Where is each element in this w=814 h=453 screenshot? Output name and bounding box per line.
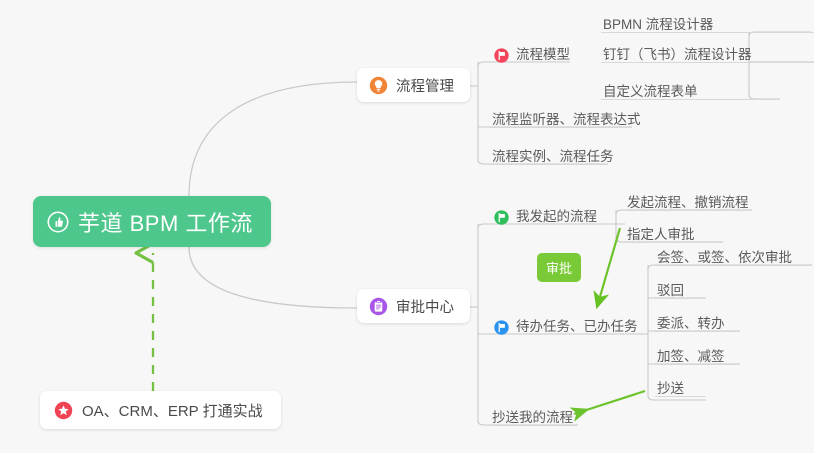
node-countersign-orsign-sequential-label: 会签、或签、依次审批 [657,246,792,266]
node-reject[interactable]: 驳回 [657,278,690,302]
node-add-remove-sign-label: 加签、减签 [657,345,725,365]
node-process-instance-task-label: 流程实例、流程任务 [492,145,614,165]
node-custom-process-form-label: 自定义流程表单 [603,80,698,100]
node-countersign-orsign-sequential[interactable]: 会签、或签、依次审批 [657,245,798,269]
clipboard-icon [369,297,388,316]
node-assignee-approval[interactable]: 指定人审批 [627,222,701,246]
node-reject-label: 驳回 [657,279,684,299]
node-bpmn-designer[interactable]: BPMN 流程设计器 [603,12,719,36]
flag-icon [494,210,509,225]
branch-process-management-label: 流程管理 [396,75,454,96]
node-add-remove-sign[interactable]: 加签、减签 [657,344,731,368]
root-label: 芋道 BPM 工作流 [78,206,253,238]
arrow-approve-flow [597,228,620,307]
node-todo-done-tasks-label: 待办任务、已办任务 [516,315,638,335]
approve-badge[interactable]: 审批 [537,253,581,282]
node-custom-process-form[interactable]: 自定义流程表单 [603,79,704,103]
node-assignee-approval-label: 指定人审批 [627,223,695,243]
arrow-cc-flow [574,391,645,414]
root-node[interactable]: 芋道 BPM 工作流 [33,196,271,247]
flag-icon [494,320,509,335]
node-delegate-transfer[interactable]: 委派、转办 [657,311,731,335]
node-process-model-label: 流程模型 [516,43,570,63]
node-cc-to-me-process-label: 抄送我的流程 [492,406,573,426]
edge-root-to-process-management [189,82,357,196]
node-start-cancel-process-label: 发起流程、撤销流程 [627,191,749,211]
node-dingtalk-feishu-designer[interactable]: 钉钉（飞书）流程设计器 [603,42,758,66]
node-process-listener-expression-label: 流程监听器、流程表达式 [492,108,641,128]
node-bpmn-designer-label: BPMN 流程设计器 [603,13,713,33]
branch-approval-center-label: 审批中心 [396,296,454,317]
star-icon [54,401,73,420]
node-process-model[interactable]: 流程模型 [494,42,576,66]
lightbulb-icon [369,76,388,95]
node-todo-done-tasks[interactable]: 待办任务、已办任务 [494,314,644,338]
node-process-listener-expression[interactable]: 流程监听器、流程表达式 [492,107,647,131]
note-label: OA、CRM、ERP 打通实战 [82,400,263,421]
edge-root-to-approval-center [189,247,357,308]
node-dingtalk-feishu-designer-label: 钉钉（飞书）流程设计器 [603,43,752,63]
node-my-initiated-process[interactable]: 我发起的流程 [494,204,603,228]
branch-process-management[interactable]: 流程管理 [357,68,470,102]
node-cc-to-me-process[interactable]: 抄送我的流程 [492,405,579,429]
mindmap-canvas: 芋道 BPM 工作流 OA、CRM、ERP 打通实战 流程管理 [0,0,814,453]
thumbs-up-icon [47,211,69,233]
node-my-initiated-process-label: 我发起的流程 [516,205,597,225]
node-cc[interactable]: 抄送 [657,376,690,400]
node-start-cancel-process[interactable]: 发起流程、撤销流程 [627,190,755,214]
note-card[interactable]: OA、CRM、ERP 打通实战 [40,391,281,429]
flag-icon [494,48,509,63]
approve-badge-label: 审批 [546,258,572,277]
node-delegate-transfer-label: 委派、转办 [657,312,725,332]
node-process-instance-task[interactable]: 流程实例、流程任务 [492,144,620,168]
node-cc-label: 抄送 [657,377,684,397]
branch-approval-center[interactable]: 审批中心 [357,289,470,323]
